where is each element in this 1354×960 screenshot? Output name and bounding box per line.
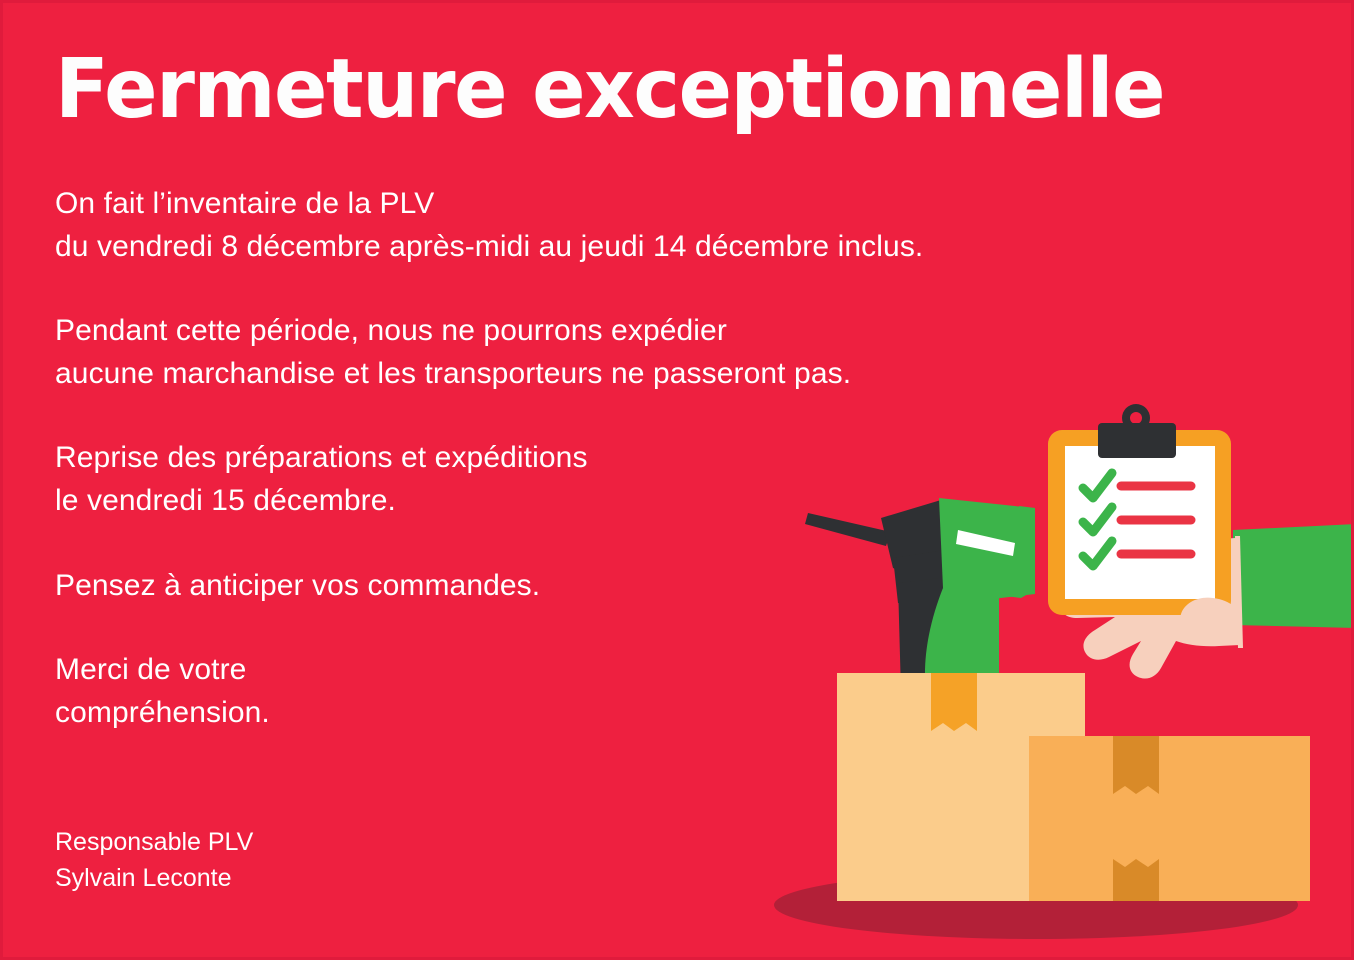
paragraph-line: compréhension. xyxy=(55,692,1175,735)
paragraph-thanks-notice: Merci de votre compréhension. xyxy=(55,649,1175,734)
page-title: Fermeture exceptionnelle xyxy=(55,49,1130,131)
paragraph-resume-notice: Reprise des préparations et expéditions … xyxy=(55,437,1175,522)
paragraph-line: Reprise des préparations et expéditions xyxy=(55,437,1175,480)
paragraph-inventory-notice: On fait l’inventaire de la PLV du vendre… xyxy=(55,183,1175,268)
signature-name: Sylvain Leconte xyxy=(55,861,253,897)
signature-block: Responsable PLV Sylvain Leconte xyxy=(55,825,253,896)
paragraph-line: On fait l’inventaire de la PLV xyxy=(55,183,1175,226)
paragraph-anticipate-orders-notice: Pensez à anticiper vos commandes. xyxy=(55,565,1175,608)
paragraph-line: du vendredi 8 décembre après-midi au jeu… xyxy=(55,226,1175,269)
paragraph-line: Pendant cette période, nous ne pourrons … xyxy=(55,310,1175,353)
paragraph-line: Pensez à anticiper vos commandes. xyxy=(55,565,1175,608)
text-column: Fermeture exceptionnelle On fait l’inven… xyxy=(55,49,1175,776)
paragraph-line: Merci de votre xyxy=(55,649,1175,692)
paragraph-line: aucune marchandise et les transporteurs … xyxy=(55,353,1175,396)
signature-role: Responsable PLV xyxy=(55,825,253,861)
paragraph-no-shipping-notice: Pendant cette période, nous ne pourrons … xyxy=(55,310,1175,395)
paragraph-line: le vendredi 15 décembre. xyxy=(55,480,1175,523)
poster-canvas: Fermeture exceptionnelle On fait l’inven… xyxy=(0,0,1354,960)
